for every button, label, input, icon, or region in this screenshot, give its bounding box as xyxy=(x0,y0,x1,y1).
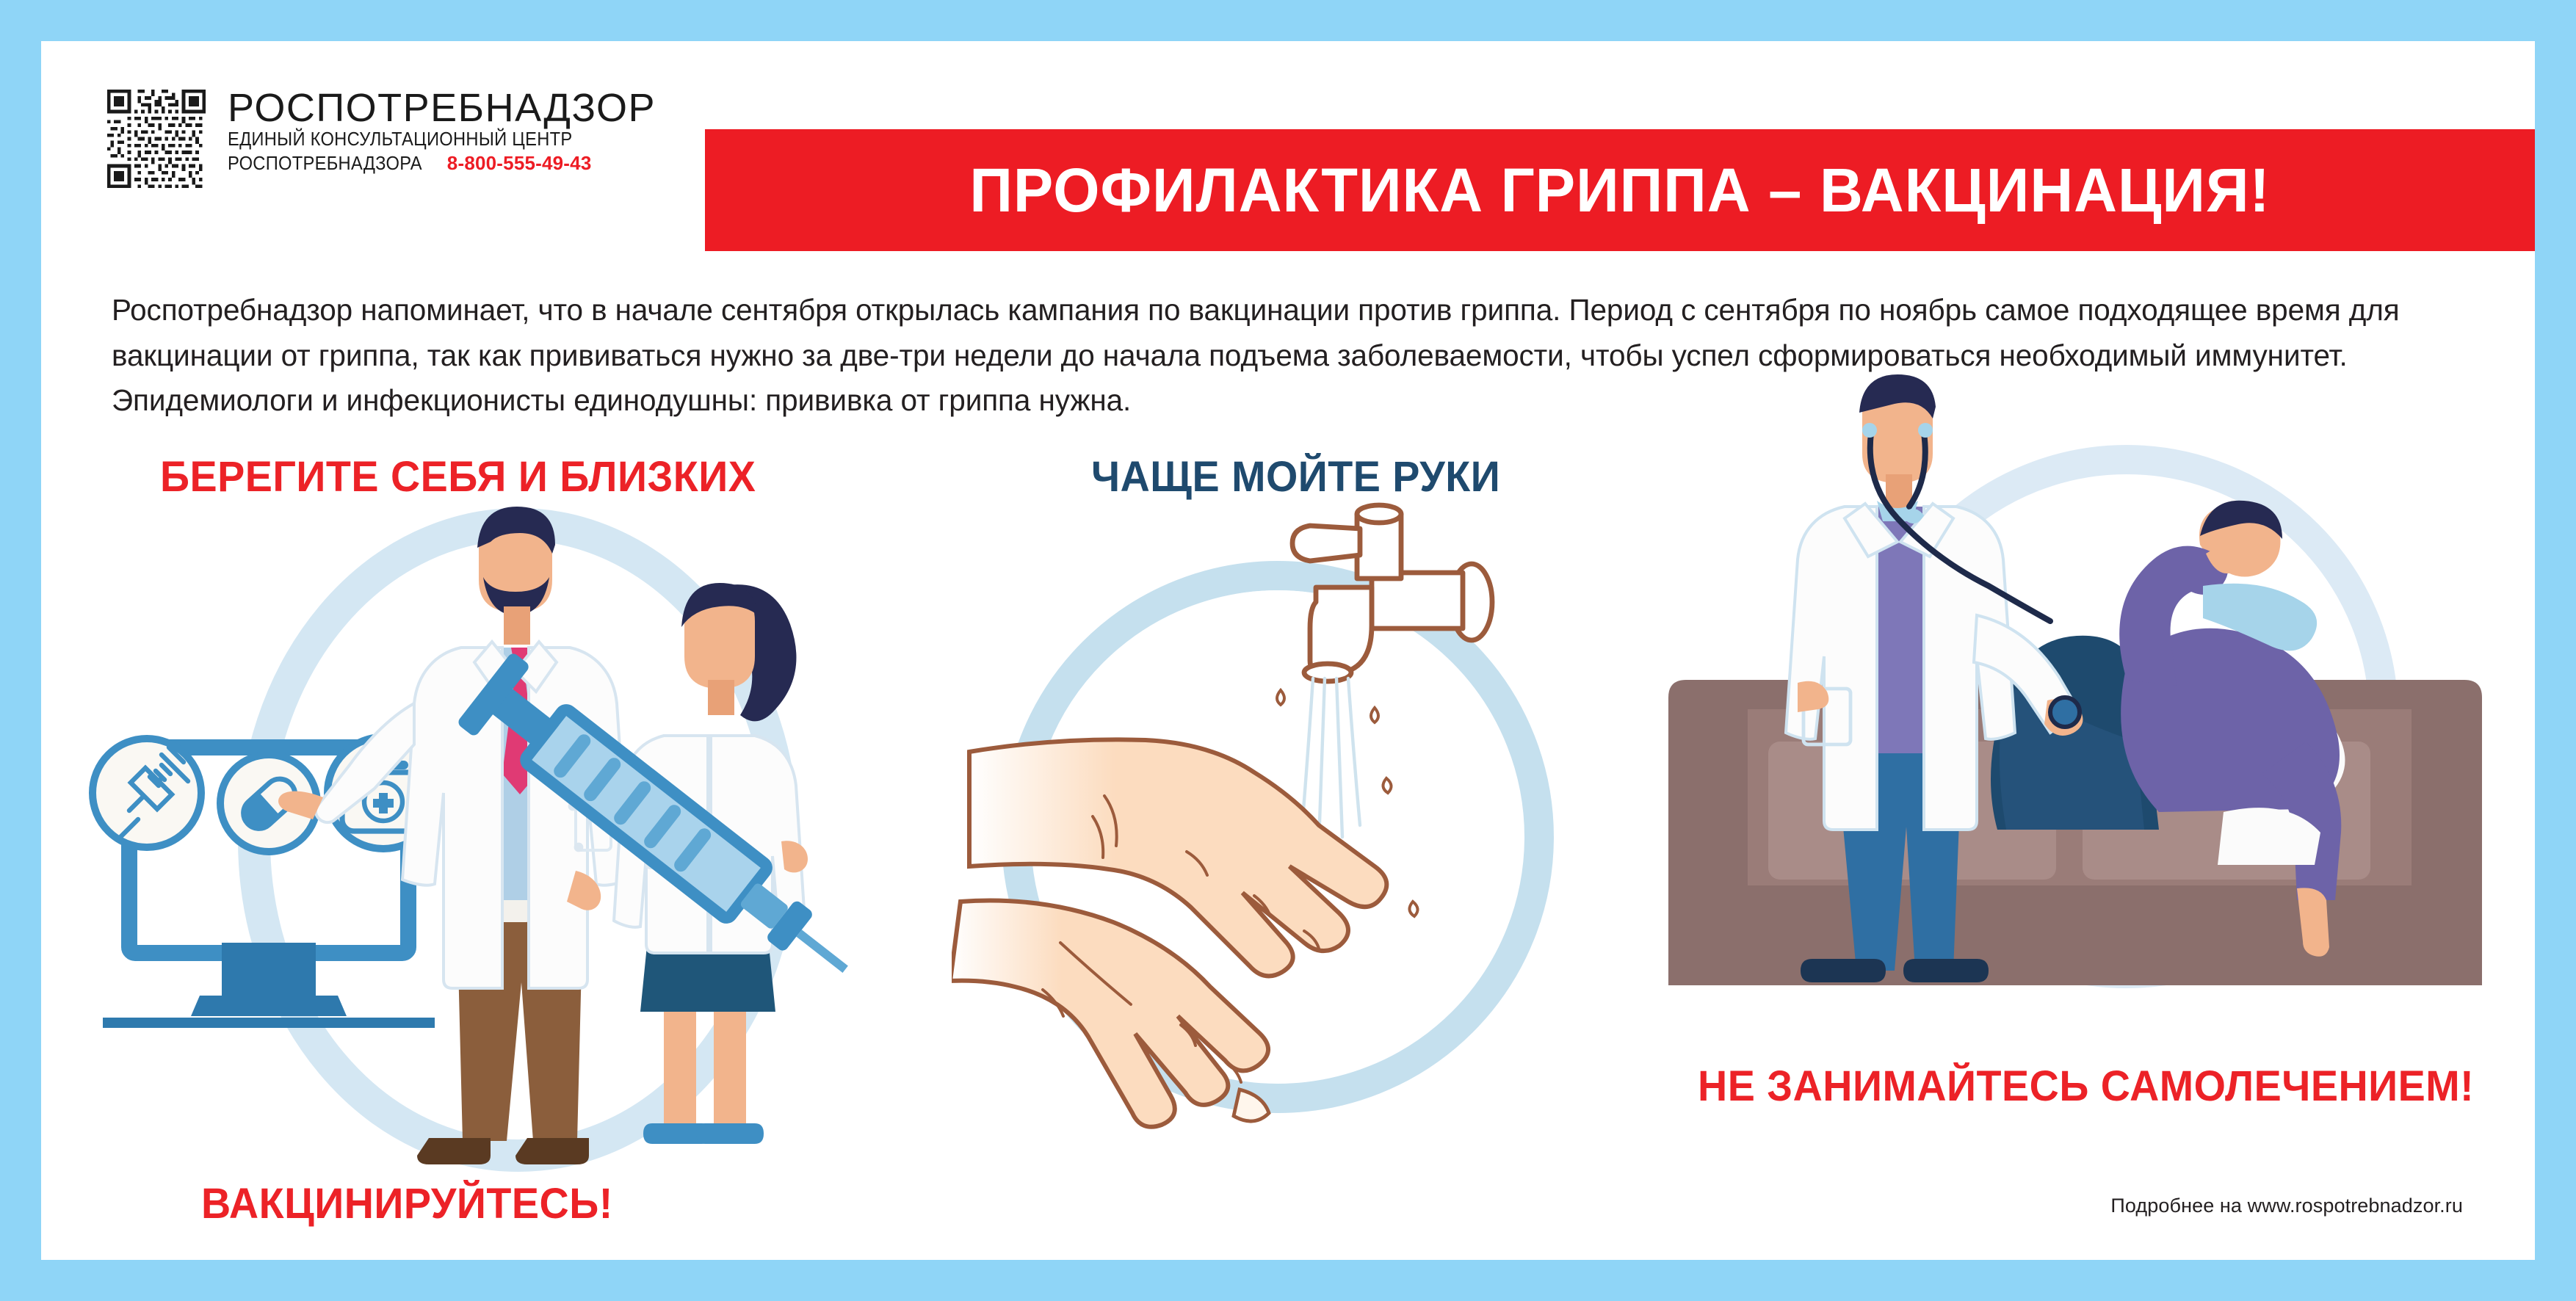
heading-get-vaccinated: ВАКЦИНИРУЙТЕСЬ! xyxy=(201,1179,613,1228)
hotline-phone-number[interactable]: 8-800-555-49-43 xyxy=(447,152,592,175)
rospotrebnadzor-brand-block: РОСПОТРЕБНАДЗОР ЕДИНЫЙ КОНСУЛЬТАЦИОННЫЙ … xyxy=(107,87,656,188)
main-title-text: ПРОФИЛАКТИКА ГРИППА – ВАКЦИНАЦИЯ! xyxy=(969,155,2270,226)
illustration-row: БЕРЕГИТЕ СЕБЯ И БЛИЗКИХ xyxy=(41,452,2535,1260)
panel-wash-hands: ЧАЩЕ МОЙТЕ РУКИ xyxy=(952,452,1598,1201)
panel-vaccinate: БЕРЕГИТЕ СЕБЯ И БЛИЗКИХ xyxy=(70,452,937,1253)
heading-wash-hands: ЧАЩЕ МОЙТЕ РУКИ xyxy=(1091,452,1500,501)
heading-no-self-medication: НЕ ЗАНИМАЙТЕСЬ САМОЛЕЧЕНИЕМ! xyxy=(1698,1062,2474,1111)
brand-name: РОСПОТРЕБНАДЗОР xyxy=(228,88,656,128)
brand-subtitle-line1: ЕДИНЫЙ КОНСУЛЬТАЦИОННЫЙ ЦЕНТР xyxy=(228,128,626,152)
main-title-banner: ПРОФИЛАКТИКА ГРИППА – ВАКЦИНАЦИЯ! xyxy=(705,129,2535,251)
brand-subtitle-line2-row: РОСПОТРЕБНАДЗОРА 8-800-555-49-43 xyxy=(228,152,656,176)
poster-card: РОСПОТРЕБНАДЗОР ЕДИНЫЙ КОНСУЛЬТАЦИОННЫЙ … xyxy=(41,41,2535,1260)
illustration-doctor-and-patient xyxy=(1642,372,2508,1054)
heading-protect-yourself: БЕРЕГИТЕ СЕБЯ И БЛИЗКИХ xyxy=(160,452,756,501)
poster-header: РОСПОТРЕБНАДЗОР ЕДИНЫЙ КОНСУЛЬТАЦИОННЫЙ … xyxy=(41,41,2535,261)
illustration-doctors-vaccination xyxy=(70,495,937,1185)
footer-website-note[interactable]: Подробнее на www.rospotrebnadzor.ru xyxy=(2110,1195,2463,1217)
brand-subtitle-line2: РОСПОТРЕБНАДЗОРА xyxy=(228,152,422,176)
syringe-icon xyxy=(93,739,201,847)
qr-code-icon xyxy=(107,90,206,188)
brand-text-block: РОСПОТРЕБНАДЗОР ЕДИНЫЙ КОНСУЛЬТАЦИОННЫЙ … xyxy=(228,87,656,175)
panel-no-self-medication: НЕ ЗАНИМАЙТЕСЬ САМОЛЕЧЕНИЕМ! xyxy=(1642,372,2538,1201)
stethoscope-chestpiece xyxy=(2050,697,2080,727)
illustration-washing-hands xyxy=(952,502,1598,1148)
